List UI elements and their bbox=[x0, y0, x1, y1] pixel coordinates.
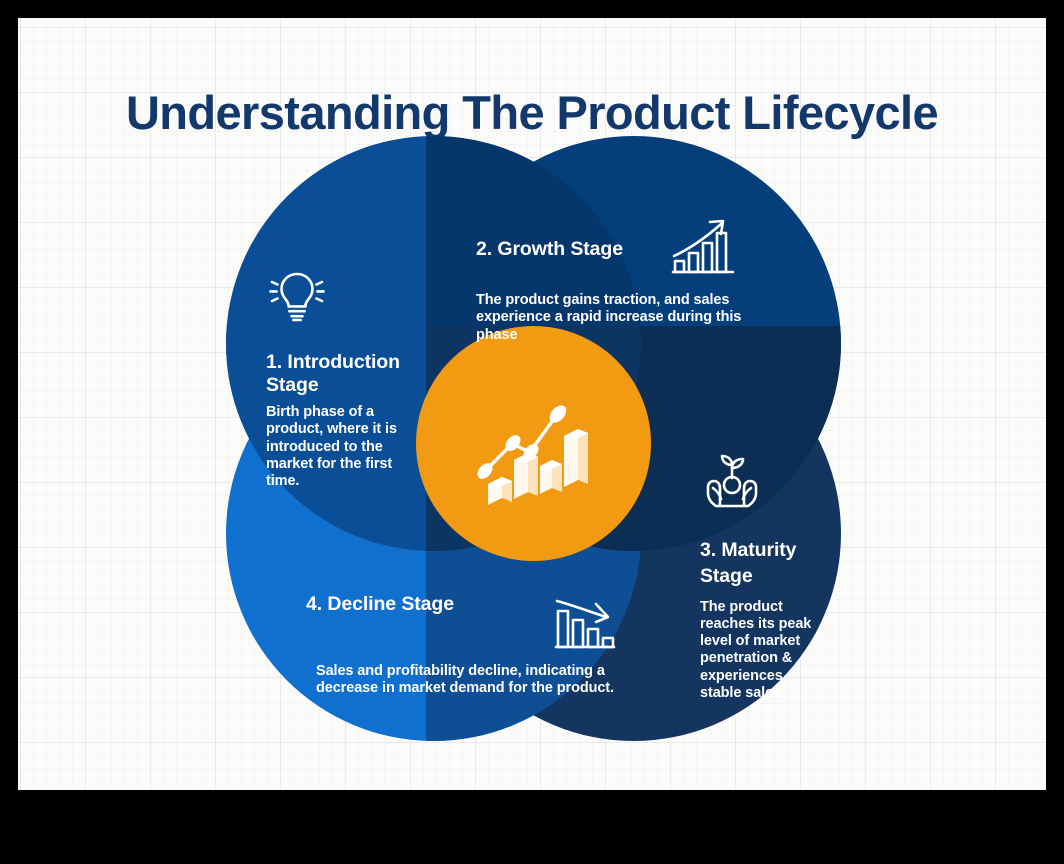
falling-bar-chart-arrow-down-icon bbox=[552, 593, 618, 658]
hands-holding-sprout-icon bbox=[700, 448, 830, 515]
venn-diagram: 1. Introduction Stage Birth phase of a p… bbox=[208, 118, 858, 778]
growth-bar-chart-icon bbox=[468, 382, 600, 506]
stage-body: The product gains traction, and sales ex… bbox=[476, 292, 744, 344]
infographic-canvas: Understanding The Product Lifecycle bbox=[18, 18, 1046, 790]
stage-heading: 3. Maturity Stage bbox=[700, 537, 830, 590]
stage-introduction[interactable]: 1. Introduction Stage Birth phase of a p… bbox=[266, 268, 416, 490]
stage-header-row: 4. Decline Stage bbox=[306, 593, 636, 658]
rising-bar-chart-arrow-up-icon bbox=[669, 216, 737, 283]
stage-decline[interactable]: 4. Decline Stage Sales and pro bbox=[306, 593, 636, 698]
stage-heading: 4. Decline Stage bbox=[306, 593, 454, 616]
stage-header-row: 2. Growth Stage bbox=[476, 216, 766, 283]
stage-growth[interactable]: 2. Growth Stage The product ga bbox=[476, 216, 766, 344]
image-frame: Understanding The Product Lifecycle bbox=[0, 0, 1064, 864]
stage-heading: 1. Introduction Stage bbox=[266, 351, 416, 397]
stage-body: Sales and profitability decline, indicat… bbox=[316, 663, 616, 698]
stage-body: Birth phase of a product, where it is in… bbox=[266, 404, 406, 490]
stage-heading: 2. Growth Stage bbox=[476, 238, 623, 261]
lightbulb-icon bbox=[266, 268, 416, 329]
center-accent-circle[interactable] bbox=[416, 326, 651, 561]
stage-body: The product reaches its peak level of ma… bbox=[700, 599, 818, 703]
stage-maturity[interactable]: 3. Maturity Stage The product reaches it… bbox=[700, 448, 830, 702]
